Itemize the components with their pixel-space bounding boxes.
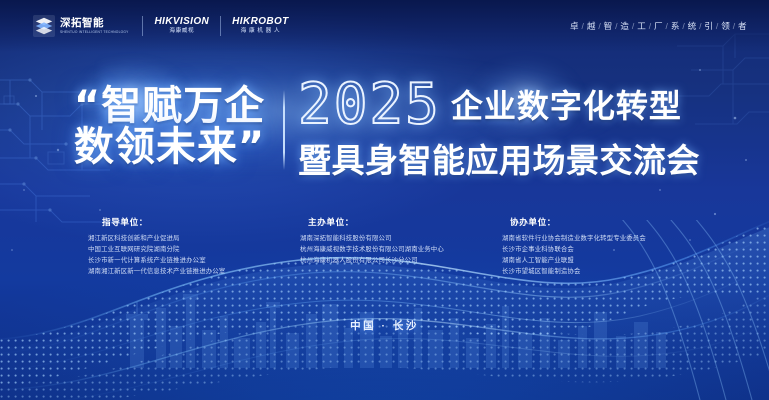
logo-hikvision: HIKVISION 海康威视	[143, 17, 220, 35]
slogan-char: 越	[587, 20, 596, 32]
logo-hikrobot: HIKROBOT 海 康 机 器 人	[221, 17, 300, 35]
slogan-char: 引	[704, 20, 713, 32]
hikvision-name-cn: 海康威视	[154, 29, 209, 35]
slogan-separator: /	[632, 21, 635, 31]
slogan-separator: /	[733, 21, 736, 31]
wave-graphic	[0, 220, 769, 400]
shentuo-logo-icon	[33, 15, 55, 37]
slogan-char: 统	[688, 20, 697, 32]
slogan-char: 造	[620, 20, 629, 32]
slogan-char: 智	[604, 20, 613, 32]
slogan-char: 领	[721, 20, 730, 32]
title-left-line1: “智赋万企	[62, 86, 277, 127]
main-title: “智赋万企 数领未来” 2025 企业数字化转型 暨具身智能应用场景交流会	[0, 78, 769, 188]
shentuo-name-cn: 深拓智能	[60, 18, 131, 29]
title-right-line2: 暨具身智能应用场景交流会	[298, 134, 700, 182]
shentuo-logo-text: 深拓智能 SHENTUO INTELLIGENT TECHNOLOGY	[60, 18, 131, 34]
slogan-separator: /	[649, 21, 652, 31]
logo-group: 深拓智能 SHENTUO INTELLIGENT TECHNOLOGY HIKV…	[22, 15, 300, 37]
hikvision-logo-text: HIKVISION 海康威视	[154, 17, 209, 35]
hikvision-name-en: HIKVISION	[154, 17, 209, 27]
title-divider	[283, 90, 285, 170]
title-right-line1: 企业数字化转型	[451, 81, 682, 131]
slogan-char: 工	[637, 20, 646, 32]
header: 深拓智能 SHENTUO INTELLIGENT TECHNOLOGY HIKV…	[0, 0, 769, 52]
slogan-char: 厂	[654, 20, 663, 32]
slogan-separator: /	[682, 21, 685, 31]
hikrobot-logo-text: HIKROBOT 海 康 机 器 人	[232, 17, 289, 35]
title-left-line2: 数领未来”	[62, 127, 277, 168]
slogan-separator: /	[615, 21, 618, 31]
slogan-separator: /	[666, 21, 669, 31]
event-location: 中国 · 长沙	[0, 318, 769, 333]
shentuo-name-sub: SHENTUO INTELLIGENT TECHNOLOGY	[60, 31, 129, 34]
title-right-row1: 2025 企业数字化转型	[298, 78, 700, 131]
slogan-separator: /	[716, 21, 719, 31]
event-banner: 深拓智能 SHENTUO INTELLIGENT TECHNOLOGY HIKV…	[0, 0, 769, 400]
logo-shentuo: 深拓智能 SHENTUO INTELLIGENT TECHNOLOGY	[22, 15, 142, 37]
title-right: 2025 企业数字化转型 暨具身智能应用场景交流会	[298, 78, 700, 182]
slogan-separator: /	[598, 21, 601, 31]
title-left: “智赋万企 数领未来”	[62, 86, 277, 168]
slogan-separator: /	[582, 21, 585, 31]
slogan-separator: /	[699, 21, 702, 31]
event-year: 2025	[298, 78, 441, 131]
hikrobot-name-cn: 海 康 机 器 人	[232, 29, 289, 35]
hikrobot-name-en: HIKROBOT	[232, 17, 289, 27]
slogan-char: 卓	[570, 20, 579, 32]
slogan-char: 系	[671, 20, 680, 32]
header-slogan: 卓/越/智/造/工/厂/系/统/引/领/者	[570, 20, 747, 32]
slogan-char: 者	[738, 20, 747, 32]
